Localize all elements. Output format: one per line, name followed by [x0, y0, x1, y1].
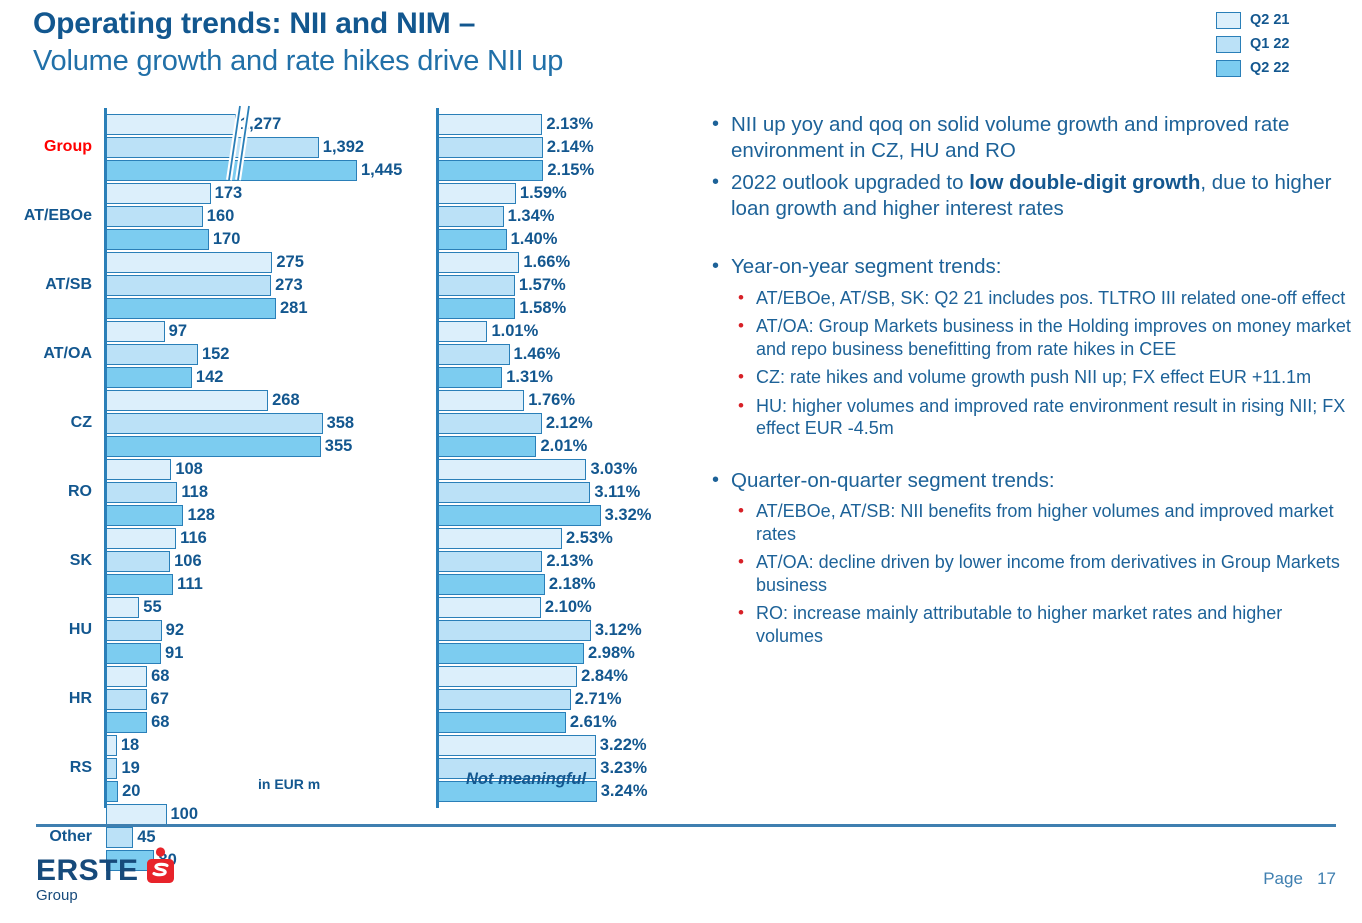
sub-bullet-qoq-3: • RO: increase mainly attributable to hi…: [738, 602, 1352, 647]
nim-bar: [438, 436, 536, 457]
outlook-bold: low double-digit growth: [969, 171, 1200, 194]
legend-swatch-q2-21: [1216, 12, 1241, 29]
nii-bar-value: 1,392: [323, 137, 364, 158]
nim-bar-value: 1.57%: [519, 275, 566, 296]
sub-bullet-text: CZ: rate hikes and volume growth push NI…: [756, 366, 1352, 389]
category-label-at-oa: AT/OA: [0, 345, 92, 363]
nim-bar-value: 2.18%: [549, 574, 596, 595]
sub-bullet-text: AT/OA: Group Markets business in the Hol…: [756, 315, 1352, 360]
nii-bar-value: 92: [166, 620, 184, 641]
nim-bar: [438, 528, 562, 549]
nim-bar-value: 3.23%: [600, 758, 647, 779]
title-line-2: Volume growth and rate hikes drive NII u…: [33, 43, 873, 79]
bullet-text: 2022 outlook upgraded to low double-digi…: [731, 170, 1352, 221]
nim-bar: [438, 735, 596, 756]
nii-bar-value: 128: [187, 505, 215, 526]
nim-bar: [438, 551, 542, 572]
bullet-text: Year-on-year segment trends:: [731, 254, 1352, 280]
sub-bullet-text: RO: increase mainly attributable to high…: [756, 602, 1352, 647]
nim-bar-value: 3.22%: [600, 735, 647, 756]
nii-bar: [106, 505, 183, 526]
title-line-1: Operating trends: NII and NIM –: [33, 6, 873, 42]
nim-bar-value: 2.13%: [546, 114, 593, 135]
nim-bar: [438, 459, 586, 480]
legend-label-q2-22: Q2 22: [1250, 60, 1290, 76]
nim-not-meaningful-label: Not meaningful: [466, 770, 586, 789]
nim-bar-value: 2.12%: [546, 413, 593, 434]
nii-bar-value: 1,277: [240, 114, 281, 135]
category-label-ro: RO: [0, 483, 92, 501]
nii-bar: [106, 666, 147, 687]
category-label-sk: SK: [0, 552, 92, 570]
nii-bar: [106, 528, 176, 549]
page-label: Page: [1263, 869, 1303, 888]
bullet-qoq-heading: • Quarter-on-quarter segment trends:: [712, 468, 1352, 494]
nim-bar: [438, 413, 542, 434]
sub-bullet-yoy-3: • CZ: rate hikes and volume growth push …: [738, 366, 1352, 389]
legend-item-q2-22: Q2 22: [1216, 56, 1336, 80]
erste-s-mark-icon: [146, 847, 175, 887]
nim-bar-value: 2.14%: [547, 137, 594, 158]
nim-bar: [438, 367, 502, 388]
nim-bar: [438, 160, 543, 181]
chart-legend: Q2 21 Q1 22 Q2 22: [1216, 8, 1336, 80]
nii-bar: [106, 597, 139, 618]
nii-bar: [106, 827, 133, 848]
nii-bar-value: 170: [213, 229, 241, 250]
sub-bullet-marker: •: [738, 315, 756, 360]
category-label-at-eboe: AT/EBOe: [0, 207, 92, 225]
nii-bar-value: 91: [165, 643, 183, 664]
nii-bar: [106, 275, 271, 296]
category-label-rs: RS: [0, 759, 92, 777]
nii-bar: [106, 758, 117, 779]
nii-bar-value: 173: [215, 183, 243, 204]
nii-bar: [106, 390, 268, 411]
sub-bullet-qoq-1: • AT/EBOe, AT/SB: NII benefits from high…: [738, 500, 1352, 545]
nii-bar: [106, 436, 321, 457]
page-value: 17: [1317, 869, 1336, 888]
nim-bar: [438, 505, 601, 526]
sub-bullet-yoy-1: • AT/EBOe, AT/SB, SK: Q2 21 includes pos…: [738, 287, 1352, 310]
nim-bar: [438, 183, 516, 204]
nim-bar: [438, 390, 524, 411]
sub-bullet-marker: •: [738, 287, 756, 310]
nii-bar: [106, 643, 161, 664]
bullet-marker: •: [712, 468, 731, 494]
nii-unit-label: in EUR m: [258, 776, 320, 792]
bullet-marker: •: [712, 170, 731, 221]
nim-bar-value: 2.10%: [545, 597, 592, 618]
nim-bar: [438, 137, 543, 158]
nim-bar: [438, 252, 519, 273]
nii-bar-value: 100: [171, 804, 199, 825]
nii-bar: [106, 321, 165, 342]
nim-bar-value: 1.40%: [511, 229, 558, 250]
nim-bar: [438, 206, 504, 227]
nim-bar-value: 3.24%: [601, 781, 648, 802]
category-label-at-sb: AT/SB: [0, 276, 92, 294]
bullet-marker: •: [712, 112, 731, 163]
page-number: Page 17: [1263, 869, 1336, 889]
nii-bar-value: 118: [181, 482, 208, 503]
nim-bar-value: 1.66%: [523, 252, 570, 273]
nii-bar: [106, 160, 357, 181]
nim-bar: [438, 712, 566, 733]
nii-bar: [106, 620, 162, 641]
nii-bar: [106, 183, 211, 204]
bullet-marker: •: [712, 254, 731, 280]
sub-bullet-qoq-2: • AT/OA: decline driven by lower income …: [738, 551, 1352, 596]
sub-bullet-yoy-2: • AT/OA: Group Markets business in the H…: [738, 315, 1352, 360]
logo-subtitle: Group: [36, 887, 139, 904]
category-label-cz: CZ: [0, 414, 92, 432]
category-label-hu: HU: [0, 621, 92, 639]
nii-bar-value: 18: [121, 735, 139, 756]
nim-bar-value: 1.76%: [528, 390, 575, 411]
nim-bar-value: 3.03%: [590, 459, 637, 480]
legend-item-q1-22: Q1 22: [1216, 32, 1336, 56]
sub-bullet-marker: •: [738, 602, 756, 647]
nim-bar: [438, 666, 577, 687]
nim-bar-value: 1.59%: [520, 183, 567, 204]
sub-bullet-text: AT/EBOe, AT/SB: NII benefits from higher…: [756, 500, 1352, 545]
sub-bullet-marker: •: [738, 366, 756, 389]
nii-bar-value: 281: [280, 298, 308, 319]
nii-bar: [106, 735, 117, 756]
commentary-panel: • NII up yoy and qoq on solid volume gro…: [712, 112, 1352, 653]
outlook-pre: 2022 outlook upgraded to: [731, 171, 969, 194]
nii-bar-value: 273: [275, 275, 303, 296]
spacer: [712, 446, 1352, 468]
nii-bar: [106, 114, 236, 135]
category-label-other: Other: [0, 828, 92, 846]
nii-bar-value: 20: [122, 781, 140, 802]
nii-bar: [106, 206, 203, 227]
nii-bar-value: 355: [325, 436, 353, 457]
nii-bar: [106, 482, 177, 503]
category-label-group: Group: [0, 138, 92, 156]
charts-container: GroupAT/EBOeAT/SBAT/OACZROSKHUHRRSOther …: [0, 108, 700, 808]
nii-bar-value: 67: [151, 689, 169, 710]
nii-bar: [106, 459, 171, 480]
nim-bar-value: 1.58%: [519, 298, 566, 319]
nim-bar-value: 2.84%: [581, 666, 628, 687]
nim-bar: [438, 298, 515, 319]
nii-bar: [106, 574, 173, 595]
sub-bullet-yoy-4: • HU: higher volumes and improved rate e…: [738, 395, 1352, 440]
nim-bar-value: 2.13%: [546, 551, 593, 572]
nim-bar-value: 2.61%: [570, 712, 617, 733]
sub-bullet-text: HU: higher volumes and improved rate env…: [756, 395, 1352, 440]
nii-bar: [106, 712, 147, 733]
nim-bar-value: 2.71%: [575, 689, 622, 710]
nim-bar: [438, 114, 542, 135]
sub-bullet-marker: •: [738, 500, 756, 545]
nim-bar: [438, 597, 541, 618]
nim-bar: [438, 321, 487, 342]
sub-bullet-marker: •: [738, 395, 756, 440]
nim-bar: [438, 620, 591, 641]
legend-swatch-q1-22: [1216, 36, 1241, 53]
nim-bar: [438, 229, 507, 250]
nii-bar: [106, 298, 276, 319]
nii-bar-value: 116: [180, 528, 207, 549]
nii-bar: [106, 252, 272, 273]
legend-label-q1-22: Q1 22: [1250, 36, 1290, 52]
nim-bar-value: 1.31%: [506, 367, 553, 388]
spacer: [712, 228, 1352, 254]
nii-bar: [106, 804, 167, 825]
nim-bar: [438, 689, 571, 710]
nim-bar: [438, 574, 545, 595]
nim-bar: [438, 344, 510, 365]
nii-bar-value: 68: [151, 666, 169, 687]
nii-bar-value: 111: [177, 574, 203, 595]
erste-group-logo: ERSTE Group: [36, 856, 139, 904]
bullet-outlook: • 2022 outlook upgraded to low double-di…: [712, 170, 1352, 221]
legend-swatch-q2-22: [1216, 60, 1241, 77]
nii-bar-value: 1,445: [361, 160, 402, 181]
nim-bar-value: 1.34%: [508, 206, 555, 227]
nii-bar: [106, 689, 147, 710]
nim-bar-value: 3.12%: [595, 620, 642, 641]
nii-bar: [106, 781, 118, 802]
sub-bullet-text: AT/EBOe, AT/SB, SK: Q2 21 includes pos. …: [756, 287, 1352, 310]
bullet-yoy-heading: • Year-on-year segment trends:: [712, 254, 1352, 280]
category-label-hr: HR: [0, 690, 92, 708]
nii-bar: [106, 229, 209, 250]
nim-bar: [438, 643, 584, 664]
nii-bar-value: 152: [202, 344, 230, 365]
nim-bar-value: 1.46%: [514, 344, 561, 365]
nim-bar-value: 2.53%: [566, 528, 613, 549]
bullet-text: Quarter-on-quarter segment trends:: [731, 468, 1352, 494]
nim-bar-value: 3.32%: [605, 505, 652, 526]
nii-bar-value: 106: [174, 551, 202, 572]
legend-item-q2-21: Q2 21: [1216, 8, 1336, 32]
nim-bar-value: 2.01%: [540, 436, 587, 457]
nii-bar-value: 358: [327, 413, 355, 434]
sub-bullet-marker: •: [738, 551, 756, 596]
logo-wordmark: ERSTE: [36, 856, 139, 886]
nim-bar-value: 1.01%: [491, 321, 538, 342]
bullet-text: NII up yoy and qoq on solid volume growt…: [731, 112, 1352, 163]
legend-label-q2-21: Q2 21: [1250, 12, 1290, 28]
nim-bar-value: 2.15%: [547, 160, 594, 181]
nim-bar: [438, 275, 515, 296]
nii-bar-value: 19: [121, 758, 139, 779]
nim-bar-value: 3.11%: [594, 482, 640, 503]
nii-bar: [106, 367, 192, 388]
nii-bar-value: 108: [175, 459, 203, 480]
nii-bar: [106, 413, 323, 434]
sub-bullet-text: AT/OA: decline driven by lower income fr…: [756, 551, 1352, 596]
nii-bar-value: 268: [272, 390, 300, 411]
footer-divider: [36, 824, 1336, 827]
nii-bar-value: 142: [196, 367, 224, 388]
nii-bar-value: 55: [143, 597, 161, 618]
nii-bar-value: 275: [276, 252, 304, 273]
bullet-nii-summary: • NII up yoy and qoq on solid volume gro…: [712, 112, 1352, 163]
nii-bar: [106, 344, 198, 365]
nii-bar-value: 68: [151, 712, 169, 733]
nii-bar: [106, 137, 319, 158]
nim-bar: [438, 482, 590, 503]
nii-bar: [106, 551, 170, 572]
page-title: Operating trends: NII and NIM – Volume g…: [33, 6, 873, 79]
nii-bar-value: 160: [207, 206, 235, 227]
nii-bar-value: 45: [137, 827, 155, 848]
nim-bar-value: 2.98%: [588, 643, 635, 664]
nii-bar-value: 97: [169, 321, 187, 342]
